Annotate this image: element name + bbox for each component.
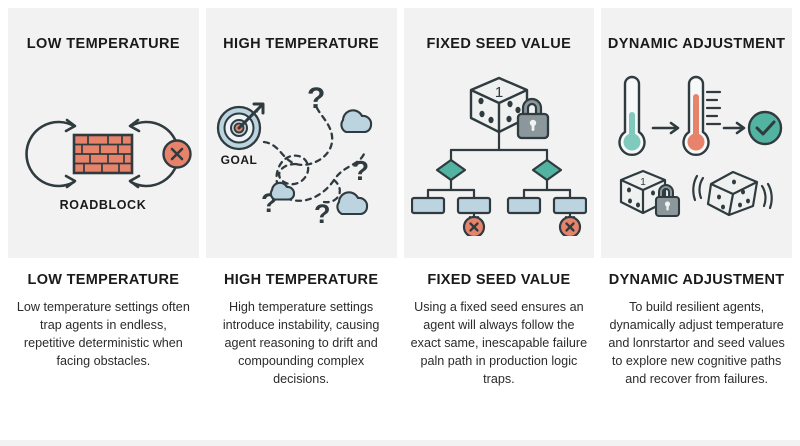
illustration-panels-row: LOW TEMPERATURE: [0, 0, 800, 258]
caption-title-fixed-seed-value: FIXED SEED VALUE: [427, 272, 570, 288]
target-icon: [218, 104, 263, 149]
process-box: [554, 198, 586, 213]
process-box: [458, 198, 490, 213]
panel-title-dynamic-adjustment: DYNAMIC ADJUSTMENT: [608, 36, 785, 52]
cloud-icon: [271, 183, 294, 200]
x-circle-group: [464, 217, 580, 236]
infographic-root: LOW TEMPERATURE: [0, 0, 800, 446]
panel-title-fixed-seed-value: FIXED SEED VALUE: [427, 36, 572, 52]
panel-high-temperature: HIGH TEMPERATURE GOAL: [206, 8, 397, 258]
caption-body-high-temperature: High temperature settings introduce inst…: [212, 299, 391, 388]
die-locked-icon: 1: [621, 171, 679, 216]
thermometer-cold-icon: [619, 77, 644, 155]
decision-diamond: [437, 160, 465, 180]
question-mark-icon: ?: [314, 199, 331, 229]
goal-drift-illustration: GOAL ? ? ? ?: [206, 72, 396, 232]
caption-high-temperature: HIGH TEMPERATURE High temperature settin…: [206, 272, 397, 440]
panel-fixed-seed-value: FIXED SEED VALUE 1: [404, 8, 595, 258]
cloud-icon: [338, 192, 368, 214]
arrow-right-icon: [724, 123, 744, 133]
caption-title-low-temperature: LOW TEMPERATURE: [28, 272, 180, 288]
lock-icon: [518, 99, 548, 138]
locked-die-tree-illustration: 1: [411, 68, 587, 236]
cloud-icon: [342, 110, 372, 132]
question-mark-icon: ?: [352, 155, 369, 186]
process-box: [412, 198, 444, 213]
thermometer-flow-illustration: 1: [607, 72, 787, 232]
panel-art-low-temperature: ROADBLOCK: [8, 52, 199, 258]
die-rolling-icon: [693, 172, 771, 215]
caption-body-dynamic-adjustment: To build resilient agents, dynamically a…: [607, 299, 786, 388]
goal-label: GOAL: [221, 153, 258, 167]
caption-body-fixed-seed-value: Using a fixed seed ensures an agent will…: [410, 299, 589, 388]
panel-art-high-temperature: GOAL ? ? ? ?: [206, 52, 397, 258]
thermometer-hot-icon: [683, 77, 720, 155]
x-circle-icon: [464, 217, 484, 236]
die-face-value: 1: [640, 177, 646, 188]
x-circle-icon: [560, 217, 580, 236]
caption-title-dynamic-adjustment: DYNAMIC ADJUSTMENT: [609, 272, 785, 288]
question-mark-icon: ?: [307, 82, 325, 115]
x-circle-icon: [164, 141, 191, 168]
decision-diamond-group: [437, 160, 561, 180]
panel-dynamic-adjustment: DYNAMIC ADJUSTMENT: [601, 8, 792, 258]
caption-body-low-temperature: Low temperature settings often trap agen…: [14, 299, 193, 371]
process-box-group: [412, 198, 586, 213]
caption-fixed-seed-value: FIXED SEED VALUE Using a fixed seed ensu…: [404, 272, 595, 440]
die-face-value: 1: [495, 84, 503, 101]
brick-wall-icon: [74, 135, 132, 173]
captions-row: LOW TEMPERATURE Low temperature settings…: [0, 258, 800, 446]
caption-title-high-temperature: HIGH TEMPERATURE: [224, 272, 378, 288]
check-circle-icon: [749, 112, 781, 144]
panel-title-high-temperature: HIGH TEMPERATURE: [223, 36, 379, 52]
loop-roadblock-illustration: ROADBLOCK: [12, 82, 194, 222]
panel-art-dynamic-adjustment: 1: [601, 52, 792, 258]
bottom-rule-divider: [0, 440, 800, 446]
panel-low-temperature: LOW TEMPERATURE: [8, 8, 199, 258]
arrow-right-icon: [653, 123, 678, 133]
panel-title-low-temperature: LOW TEMPERATURE: [27, 36, 180, 52]
panel-art-fixed-seed-value: 1: [404, 52, 595, 258]
decision-diamond: [533, 160, 561, 180]
process-box: [508, 198, 540, 213]
roadblock-label: ROADBLOCK: [60, 198, 147, 212]
lock-icon: [656, 185, 679, 216]
caption-low-temperature: LOW TEMPERATURE Low temperature settings…: [8, 272, 199, 440]
caption-dynamic-adjustment: DYNAMIC ADJUSTMENT To build resilient ag…: [601, 272, 792, 440]
